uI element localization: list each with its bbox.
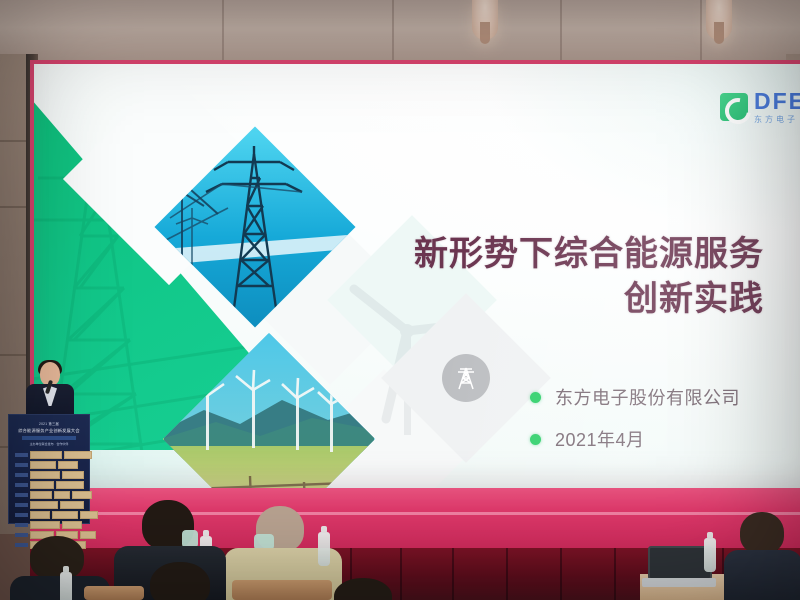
- audience-head: [740, 512, 784, 554]
- podium-line-3: 主办单位联合发布 · 合作伙伴: [17, 442, 81, 446]
- podium: 2021 第三届 综合能源服务产业创新发展大会 主办单位联合发布 · 合作伙伴: [8, 414, 90, 524]
- ceiling-wall: [0, 0, 800, 62]
- podium-line-1: 2021 第三届: [17, 421, 81, 426]
- wall-seam: [392, 0, 394, 62]
- presenter: [22, 362, 78, 420]
- transmission-tower-badge-icon: [451, 363, 481, 393]
- chair: [232, 580, 332, 600]
- dfe-swirl-mark-icon: [720, 93, 748, 121]
- bullet-text: 东方电子股份有限公司: [555, 384, 740, 410]
- water-bottle: [318, 532, 330, 566]
- wall-sconce-light: [472, 0, 498, 40]
- sponsor-row: [15, 451, 85, 459]
- dfe-wordmark: DFE 东方电子: [754, 90, 800, 124]
- audience-body: [724, 550, 800, 600]
- bullet-text: 2021年4月: [555, 426, 645, 452]
- conference-hall-photo: 新形势下综合能源服务 创新实践 东方电子股份有限公司 2021年4月 DFE 东…: [0, 0, 800, 600]
- chair: [84, 586, 144, 600]
- audience-head: [150, 562, 210, 600]
- sponsor-row: [15, 471, 85, 479]
- podium-line-2: 综合能源服务产业创新发展大会: [17, 428, 81, 434]
- slide-title: 新形势下综合能源服务 创新实践: [334, 232, 764, 322]
- slide-bullet-list: 东方电子股份有限公司 2021年4月: [530, 384, 800, 468]
- list-item: 东方电子股份有限公司: [530, 384, 800, 410]
- wall-sconce-light: [706, 0, 732, 40]
- sponsor-row: [15, 501, 85, 509]
- wall-seam: [222, 0, 224, 62]
- wall-seam: [560, 0, 562, 62]
- podium-divider: [22, 436, 76, 440]
- slide-title-line-1: 新形势下综合能源服务: [414, 235, 764, 273]
- transmission-tower-badge: [442, 354, 490, 402]
- presentation-screen: 新形势下综合能源服务 创新实践 东方电子股份有限公司 2021年4月 DFE 东…: [34, 64, 800, 488]
- audience-head: [334, 578, 392, 600]
- bullet-dot-icon: [530, 392, 541, 403]
- bullet-dot-icon: [530, 434, 541, 445]
- sponsor-row: [15, 481, 85, 489]
- slide-title-line-2: 创新实践: [334, 277, 764, 322]
- water-bottle: [704, 538, 716, 572]
- audience-head: [30, 536, 84, 580]
- audience-member-front-center: [142, 562, 232, 600]
- dfe-logo: DFE 东方电子: [720, 90, 800, 124]
- logo-subtext: 东方电子: [754, 116, 800, 124]
- sponsor-row: [15, 521, 85, 529]
- laptop: [648, 546, 712, 580]
- sponsor-row: [15, 511, 85, 519]
- audience-member-front-right: [330, 578, 410, 600]
- wall-seam: [700, 0, 702, 62]
- water-bottle: [60, 572, 72, 600]
- podium-header: 2021 第三届 综合能源服务产业创新发展大会 主办单位联合发布 · 合作伙伴: [17, 421, 81, 446]
- list-item: 2021年4月: [530, 426, 800, 452]
- audience-member-right-laptop: [726, 512, 800, 600]
- sponsor-row: [15, 491, 85, 499]
- logo-wordmark-text: DFE: [754, 90, 800, 113]
- sponsor-row: [15, 461, 85, 469]
- laptop-base: [642, 578, 716, 587]
